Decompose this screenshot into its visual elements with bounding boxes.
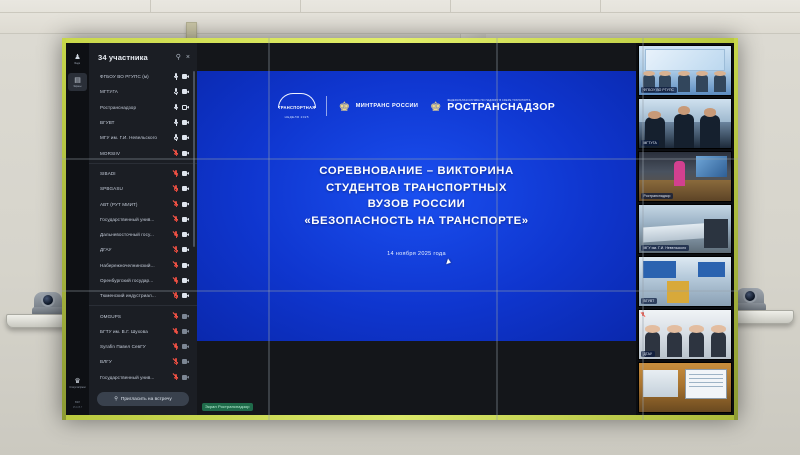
participant-name: Ространснадзор bbox=[100, 105, 174, 110]
participant-thumbnail-strip: ФГБОУ ВО РГУПСМГТУГАРостранснадзорМГУ им… bbox=[636, 43, 734, 415]
mintrans-label: МИНТРАНС РОССИИ bbox=[356, 103, 418, 109]
participant-group: OMGUPSБГТУ им. В.Г. ШуховаSyrafin Павел … bbox=[89, 308, 197, 386]
microphone-icon[interactable] bbox=[174, 292, 179, 299]
thumbnail-name-label: МГУ им. Г.И. Невельского bbox=[641, 245, 689, 251]
participant-status-icons bbox=[174, 170, 190, 177]
participant-status-icons bbox=[174, 73, 190, 80]
camera-icon[interactable] bbox=[182, 151, 190, 156]
camera-icon[interactable] bbox=[182, 74, 190, 79]
rail-label-people: Люди bbox=[75, 62, 81, 65]
participant-name: SIBADI bbox=[100, 171, 174, 176]
participant-name: MORSIIV bbox=[100, 151, 174, 156]
wall-glow-bottom bbox=[62, 415, 738, 420]
participant-thumbnail[interactable]: МГУ им. Г.И. Невельского bbox=[638, 204, 732, 255]
participant-row[interactable]: Тюменский индустриал... bbox=[89, 288, 197, 303]
participant-status-icons bbox=[174, 277, 190, 284]
thumbnail-name-label: ВГУВТ bbox=[641, 298, 657, 304]
slide-title-line-3: ВУЗОВ РОССИИ bbox=[197, 196, 636, 213]
rail-label-screens: Экраны bbox=[73, 85, 81, 88]
participants-footer: ⚲ Пригласить на встречу bbox=[89, 386, 197, 415]
video-conference-app: ♟ Люди ▤ Экраны ♛ Статус встречи ВКЛ 25.… bbox=[66, 43, 734, 415]
participant-name: ДГАУ bbox=[100, 247, 174, 252]
camera-icon[interactable] bbox=[182, 314, 190, 319]
camera-icon[interactable] bbox=[182, 375, 190, 380]
microphone-icon[interactable] bbox=[174, 328, 179, 335]
participant-thumbnail[interactable]: Ространснадзор bbox=[638, 151, 732, 202]
camera-icon[interactable] bbox=[182, 135, 190, 140]
slide-title: СОРЕВНОВАНИЕ – ВИКТОРИНА СТУДЕНТОВ ТРАНС… bbox=[197, 163, 636, 229]
app-left-rail: ♟ Люди ▤ Экраны ♛ Статус встречи ВКЛ 25.… bbox=[66, 43, 89, 415]
close-icon[interactable]: × bbox=[186, 54, 190, 61]
participant-status-icons bbox=[174, 231, 190, 238]
participant-status-icons bbox=[174, 328, 190, 335]
participant-name: Государственный унив... bbox=[100, 375, 174, 380]
camera-icon[interactable] bbox=[182, 217, 190, 222]
participant-status-icons bbox=[174, 201, 190, 208]
participant-row[interactable]: МГТУГА bbox=[89, 84, 197, 99]
transport-week-logo: ТРАНСПОРТНАЯ НЕДЕЛЯ 2025 bbox=[278, 93, 316, 119]
double-eagle-icon: ♚ bbox=[337, 98, 352, 115]
camera-icon[interactable] bbox=[182, 186, 190, 191]
microphone-icon[interactable] bbox=[174, 170, 179, 177]
participant-row[interactable]: БГТУ им. В.Г. Шухова bbox=[89, 324, 197, 339]
participant-name: ВЛГУ bbox=[100, 359, 174, 364]
slide-logo-bar: ТРАНСПОРТНАЯ НЕДЕЛЯ 2025 ♚ МИНТРАНС РОСС… bbox=[197, 89, 636, 123]
participant-group: SIBADISPBGASUАВТ (РУТ МИИТ)Государственн… bbox=[89, 166, 197, 307]
participant-row[interactable]: Набережночелнинский... bbox=[89, 258, 197, 273]
participants-list[interactable]: ФГБОУ ВО РГУПС (м)МГТУГАРостранснадзорВГ… bbox=[89, 69, 197, 386]
participants-scrollbar[interactable] bbox=[193, 71, 195, 247]
participant-row[interactable]: ДГАУ bbox=[89, 242, 197, 257]
wall-glow-right bbox=[734, 38, 738, 420]
microphone-icon[interactable] bbox=[174, 358, 179, 365]
camera-icon[interactable] bbox=[182, 329, 190, 334]
ceiling bbox=[0, 0, 800, 34]
rail-status-text: ВКЛ bbox=[75, 401, 80, 404]
participant-row[interactable]: ВЛГУ bbox=[89, 354, 197, 369]
microphone-icon[interactable] bbox=[174, 134, 179, 141]
participant-name: ВГУВТ bbox=[100, 120, 174, 125]
rail-bottom-group: ♛ Статус встречи ВКЛ 25.105.7 bbox=[66, 374, 89, 409]
muted-microphone-icon bbox=[641, 312, 645, 318]
participant-status-icons bbox=[174, 262, 190, 269]
mintrans-logo: ♚ МИНТРАНС РОССИИ bbox=[337, 98, 418, 115]
slide-date: 14 ноября 2025 года bbox=[197, 251, 636, 257]
participant-name: БГТУ им. В.Г. Шухова bbox=[100, 329, 174, 334]
participant-name: Государственный унив... bbox=[100, 217, 174, 222]
transport-week-line1: ТРАНСПОРТНАЯ bbox=[278, 105, 316, 110]
camera-icon[interactable] bbox=[182, 344, 190, 349]
participant-status-icons bbox=[174, 358, 190, 365]
camera-icon[interactable] bbox=[182, 89, 190, 94]
participant-thumbnail[interactable]: ДГАУ bbox=[638, 309, 732, 360]
screens-icon: ▤ bbox=[74, 77, 81, 84]
microphone-icon[interactable] bbox=[174, 119, 179, 126]
microphone-icon[interactable] bbox=[174, 343, 179, 350]
participant-status-icons bbox=[174, 119, 190, 126]
participant-name: АВТ (РУТ МИИТ) bbox=[100, 202, 174, 207]
participant-status-icons bbox=[174, 216, 190, 223]
participant-name: OMGUPS bbox=[100, 314, 174, 319]
camera-icon[interactable] bbox=[182, 202, 190, 207]
shared-screen-stage: ТРАНСПОРТНАЯ НЕДЕЛЯ 2025 ♚ МИНТРАНС РОСС… bbox=[197, 43, 636, 415]
participant-row[interactable]: SPBGASU bbox=[89, 181, 197, 196]
rail-button-meeting-status[interactable]: ♛ Статус встречи bbox=[68, 374, 87, 392]
invite-button-label: Пригласить на встречу bbox=[121, 397, 172, 402]
microphone-icon[interactable] bbox=[174, 104, 179, 111]
add-person-icon: ⚲ bbox=[114, 396, 118, 402]
participant-row[interactable]: Дальневосточный госу... bbox=[89, 227, 197, 242]
participant-status-icons bbox=[174, 343, 190, 350]
microphone-icon[interactable] bbox=[174, 73, 179, 80]
participant-name: Дальневосточный госу... bbox=[100, 232, 174, 237]
participant-row[interactable]: ФГБОУ ВО РГУПС (м) bbox=[89, 69, 197, 84]
participants-panel: 34 участника ⚲ × ФГБОУ ВО РГУПС (м)МГТУГ… bbox=[89, 43, 197, 415]
screen-share-label: Экран Ространснадзор bbox=[202, 403, 253, 411]
thumbnail-name-label: Ространснадзор bbox=[641, 193, 673, 199]
microphone-icon[interactable] bbox=[174, 277, 179, 284]
rostransnadzor-logo: ♚ ФЕДЕРАЛЬНАЯ СЛУЖБА ПО НАДЗОРУ В СФЕРЕ … bbox=[428, 98, 555, 115]
participant-row[interactable]: Государственный унив... bbox=[89, 370, 197, 385]
people-icon: ♟ bbox=[74, 54, 80, 61]
participant-thumbnail[interactable]: ВГУВТ bbox=[638, 256, 732, 307]
participant-name: МГТУГА bbox=[100, 89, 174, 94]
stage-footer: Экран Ространснадзор bbox=[197, 397, 636, 415]
invite-to-meeting-button[interactable]: ⚲ Пригласить на встречу bbox=[97, 392, 189, 406]
participant-row[interactable]: MORSIIV bbox=[89, 145, 197, 160]
participant-group: ФГБОУ ВО РГУПС (м)МГТУГАРостранснадзорВГ… bbox=[89, 69, 197, 164]
thumbnail-name-label: ДГАУ bbox=[641, 351, 655, 357]
camera-icon[interactable] bbox=[182, 105, 190, 110]
rostransnadzor-label: РОСТРАНСНАДЗОР bbox=[447, 102, 555, 113]
conference-room-photo: ♟ Люди ▤ Экраны ♛ Статус встречи ВКЛ 25.… bbox=[0, 0, 800, 455]
camera-icon[interactable] bbox=[182, 278, 190, 283]
rail-version-text: 25.105.7 bbox=[73, 406, 82, 409]
microphone-icon[interactable] bbox=[174, 88, 179, 95]
participant-row[interactable]: OMGUPS bbox=[89, 308, 197, 323]
thumbnail-name-label: ФГБОУ ВО РГУПС bbox=[641, 87, 677, 93]
microphone-icon[interactable] bbox=[174, 150, 179, 157]
search-icon[interactable]: ⚲ bbox=[176, 53, 181, 61]
rail-button-screens[interactable]: ▤ Экраны bbox=[68, 73, 87, 91]
participant-row[interactable]: SIBADI bbox=[89, 166, 197, 181]
participant-name: Оренбургский государ... bbox=[100, 278, 174, 283]
rail-button-people[interactable]: ♟ Люди bbox=[68, 50, 87, 68]
participant-row[interactable]: Syrafin Павел СевГУ bbox=[89, 339, 197, 354]
participant-name: SPBGASU bbox=[100, 186, 174, 191]
video-wall-display: ♟ Люди ▤ Экраны ♛ Статус встречи ВКЛ 25.… bbox=[62, 38, 738, 420]
slide-viewport[interactable]: ТРАНСПОРТНАЯ НЕДЕЛЯ 2025 ♚ МИНТРАНС РОСС… bbox=[197, 43, 636, 397]
participant-row[interactable]: ВГУВТ bbox=[89, 115, 197, 130]
presentation-slide: ТРАНСПОРТНАЯ НЕДЕЛЯ 2025 ♚ МИНТРАНС РОСС… bbox=[197, 71, 636, 341]
participant-status-icons bbox=[174, 374, 190, 381]
participant-row[interactable]: Ространснадзор bbox=[89, 100, 197, 115]
logo-divider bbox=[326, 96, 327, 116]
participant-name: Syrafin Павел СевГУ bbox=[100, 344, 174, 349]
camera-icon[interactable] bbox=[182, 232, 190, 237]
participant-thumbnail[interactable] bbox=[638, 362, 732, 413]
participant-status-icons bbox=[174, 185, 190, 192]
camera-icon[interactable] bbox=[182, 247, 190, 252]
rail-label-meeting-status: Статус встречи bbox=[69, 386, 85, 389]
camera-icon[interactable] bbox=[182, 359, 190, 364]
participant-row[interactable]: МГУ им. Г.И. Невельского bbox=[89, 130, 197, 145]
participant-status-icons bbox=[174, 246, 190, 253]
microphone-icon[interactable] bbox=[174, 262, 179, 269]
participant-status-icons bbox=[174, 292, 190, 299]
participant-name: Набережночелнинский... bbox=[100, 263, 174, 268]
microphone-icon[interactable] bbox=[174, 201, 179, 208]
participants-count-title: 34 участника bbox=[98, 53, 171, 62]
participant-status-icons bbox=[174, 150, 190, 157]
double-eagle-icon-2: ♚ bbox=[428, 98, 443, 115]
camera-icon[interactable] bbox=[182, 263, 190, 268]
mouse-cursor bbox=[446, 259, 452, 266]
slide-title-line-4: «БЕЗОПАСНОСТЬ НА ТРАНСПОРТЕ» bbox=[197, 213, 636, 230]
participant-name: МГУ им. Г.И. Невельского bbox=[100, 135, 174, 140]
microphone-icon[interactable] bbox=[174, 216, 179, 223]
participant-status-icons bbox=[174, 88, 190, 95]
participant-row[interactable]: АВТ (РУТ МИИТ) bbox=[89, 196, 197, 211]
slide-title-line-2: СТУДЕНТОВ ТРАНСПОРТНЫХ bbox=[197, 180, 636, 197]
participant-name: Тюменский индустриал... bbox=[100, 293, 174, 298]
camera-icon[interactable] bbox=[182, 293, 190, 298]
participant-name: ФГБОУ ВО РГУПС (м) bbox=[100, 74, 174, 79]
microphone-icon[interactable] bbox=[174, 231, 179, 238]
microphone-icon[interactable] bbox=[174, 374, 179, 381]
thumbnail-name-label: МГТУГА bbox=[641, 140, 659, 146]
participant-thumbnail[interactable]: ФГБОУ ВО РГУПС bbox=[638, 45, 732, 96]
participant-status-icons bbox=[174, 134, 190, 141]
transport-week-line2: НЕДЕЛЯ 2025 bbox=[285, 115, 309, 119]
microphone-icon[interactable] bbox=[174, 246, 179, 253]
thumbnail-video-frame bbox=[639, 363, 731, 412]
crown-icon: ♛ bbox=[74, 378, 80, 385]
participants-header: 34 участника ⚲ × bbox=[89, 49, 197, 65]
participant-row[interactable]: Оренбургский государ... bbox=[89, 273, 197, 288]
participant-status-icons bbox=[174, 313, 190, 320]
participant-row[interactable]: Государственный унив... bbox=[89, 212, 197, 227]
microphone-icon[interactable] bbox=[174, 185, 179, 192]
camera-icon[interactable] bbox=[182, 171, 190, 176]
participant-thumbnail[interactable]: МГТУГА bbox=[638, 98, 732, 149]
participant-status-icons bbox=[174, 104, 190, 111]
microphone-icon[interactable] bbox=[174, 313, 179, 320]
camera-icon[interactable] bbox=[182, 120, 190, 125]
slide-title-line-1: СОРЕВНОВАНИЕ – ВИКТОРИНА bbox=[197, 163, 636, 180]
